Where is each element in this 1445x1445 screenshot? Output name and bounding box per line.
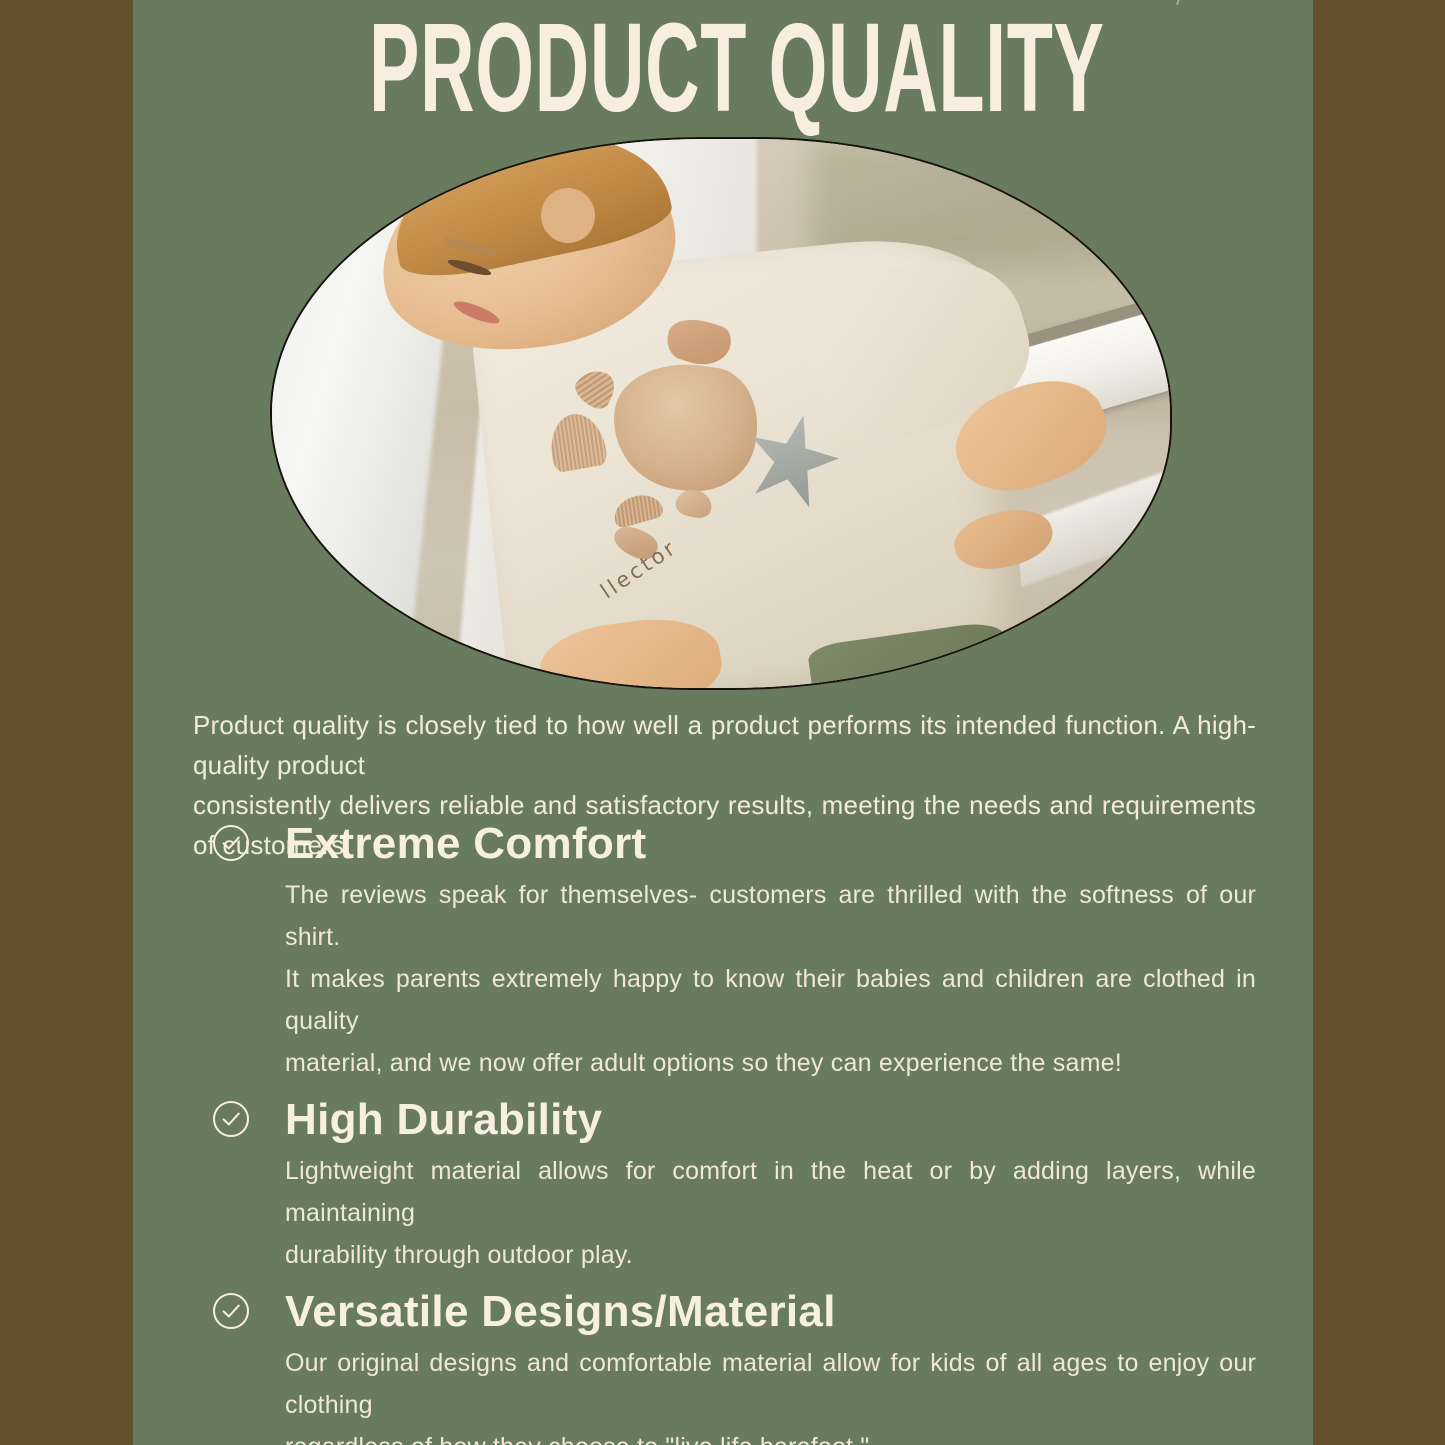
feature-body-line: durability through outdoor play. <box>285 1234 1256 1276</box>
feature-body-line: regardless of how they choose to "live l… <box>285 1426 1256 1445</box>
feature-body: Lightweight material allows for comfort … <box>285 1150 1256 1276</box>
feature-body-line: Our original designs and comfortable mat… <box>285 1342 1256 1426</box>
page-title: PRODUCT QUALITY <box>369 12 1077 124</box>
feature-item-versatile-designs: Versatile Designs/Material Our original … <box>133 1286 1313 1445</box>
feature-body-line: It makes parents extremely happy to know… <box>285 958 1256 1042</box>
check-circle-icon <box>212 1100 250 1138</box>
decorative-top-mark <box>1176 0 1203 11</box>
feature-title: Extreme Comfort <box>285 818 1256 870</box>
hero-photo: llector <box>270 137 1172 690</box>
feature-item-high-durability: High Durability Lightweight material all… <box>133 1094 1313 1276</box>
feature-item-extreme-comfort: Extreme Comfort The reviews speak for th… <box>133 818 1313 1084</box>
feature-title: High Durability <box>285 1094 1256 1146</box>
intro-line-1: Product quality is closely tied to how w… <box>193 705 1256 785</box>
feature-body-line: Lightweight material allows for comfort … <box>285 1150 1256 1234</box>
feature-body-line: material, and we now offer adult options… <box>285 1042 1256 1084</box>
check-circle-icon <box>212 824 250 862</box>
feature-list: Extreme Comfort The reviews speak for th… <box>133 818 1313 1445</box>
content-card: PRODUCT QUALITY <box>133 0 1313 1445</box>
feature-body: Our original designs and comfortable mat… <box>285 1342 1256 1445</box>
feature-body-line: The reviews speak for themselves- custom… <box>285 874 1256 958</box>
feature-body: The reviews speak for themselves- custom… <box>285 874 1256 1084</box>
check-circle-icon <box>212 1292 250 1330</box>
feature-title: Versatile Designs/Material <box>285 1286 1256 1338</box>
hero-photo-image: llector <box>272 139 1170 688</box>
page-root: PRODUCT QUALITY <box>0 0 1445 1445</box>
